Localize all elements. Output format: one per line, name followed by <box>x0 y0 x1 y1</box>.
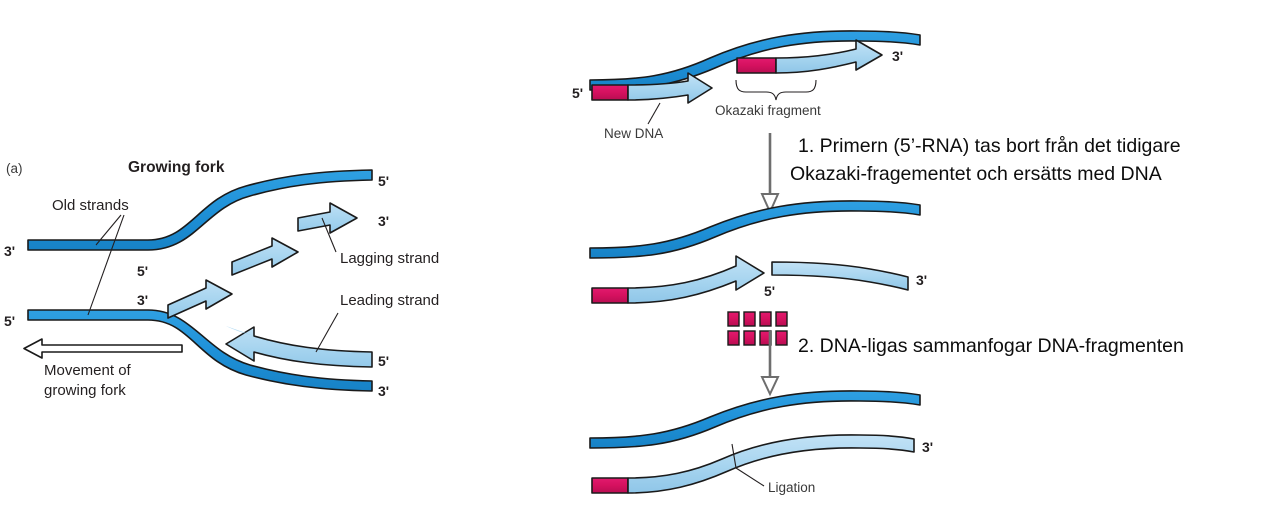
step1-end-5prime: 5' <box>572 85 583 101</box>
okazaki-arrow-1 <box>168 280 232 318</box>
step2-template-strand <box>590 201 920 258</box>
replication-figure: (a) Growing fork 3' 5' 5' 3' 5' <box>0 0 1270 522</box>
panel-a-label: (a) <box>6 161 23 176</box>
panel-b-okazaki-processing: 3' 5' New DNA Okazaki fragment 1. Primer… <box>560 0 1270 522</box>
free-nucleotide <box>728 312 739 326</box>
panel-a-title: Growing fork <box>128 159 225 176</box>
free-nucleotide <box>744 331 755 345</box>
end-label-5prime-leading: 5' <box>378 353 389 369</box>
end-label-5prime-lagging-start: 5' <box>137 263 148 279</box>
end-label-5prime-template-bottom: 5' <box>4 313 15 329</box>
step-connector-arrow-1 <box>762 133 778 212</box>
step2-downstream-fragment <box>772 262 908 290</box>
old-strands-label: Old strands <box>52 197 129 214</box>
step2-extending-strand <box>628 256 764 303</box>
fork-movement-arrow <box>24 339 182 358</box>
step3-end-3prime: 3' <box>922 439 933 455</box>
end-label-3prime-leading-start: 3' <box>137 292 148 308</box>
step2-end-3prime: 3' <box>916 272 927 288</box>
leading-strand-arrow <box>226 327 372 367</box>
step1-okazaki-label: Okazaki fragment <box>715 103 821 118</box>
step3-ligation-label: Ligation <box>768 480 815 495</box>
annotation-2-line-1: 2. DNA-ligas sammanfogar DNA-fragmenten <box>798 335 1184 357</box>
step1-rna-primer-left <box>592 85 628 100</box>
leading-strand-label: Leading strand <box>340 292 439 309</box>
step2-end-5prime: 5' <box>764 283 775 299</box>
free-nucleotide <box>760 312 771 326</box>
fork-movement-label-line1: Movement of <box>44 362 132 379</box>
panel-a-svg: (a) Growing fork 3' 5' 5' 3' 5' <box>0 0 560 522</box>
free-nucleotide <box>744 312 755 326</box>
annotation-1-line-1: 1. Primern (5’-RNA) tas bort från det ti… <box>798 135 1181 157</box>
step-2-group: 3' 5' <box>590 201 927 345</box>
step-1-group: 3' 5' New DNA Okazaki fragment <box>572 31 920 141</box>
step1-new-dna-label: New DNA <box>604 126 663 141</box>
lagging-strand-label: Lagging strand <box>340 250 439 267</box>
free-nucleotide <box>776 312 787 326</box>
step-3-group: 3' Ligation <box>590 391 933 495</box>
end-label-3prime-parent-bottom: 3' <box>378 383 389 399</box>
free-nucleotide <box>776 331 787 345</box>
fork-movement-label-line2: growing fork <box>44 382 126 399</box>
step1-rna-primer-okazaki <box>737 58 776 73</box>
step1-okazaki-brace <box>736 80 816 100</box>
end-label-5prime-parent-top: 5' <box>378 173 389 189</box>
step1-end-3prime: 3' <box>892 48 903 64</box>
okazaki-arrow-2 <box>232 238 298 275</box>
step3-rna-primer <box>592 478 628 493</box>
end-label-3prime-lagging: 3' <box>378 213 389 229</box>
free-nucleotides-group <box>728 312 787 345</box>
old-strands-leader-bottom <box>88 215 124 315</box>
step2-rna-primer <box>592 288 628 303</box>
free-nucleotide <box>728 331 739 345</box>
step3-ligation-leader <box>736 468 764 486</box>
end-label-3prime-template-top: 3' <box>4 243 15 259</box>
panel-a-growing-fork: (a) Growing fork 3' 5' 5' 3' 5' <box>0 0 560 522</box>
okazaki-arrow-3 <box>298 203 357 233</box>
step1-new-dna-leader <box>648 103 660 124</box>
annotation-1-line-2: Okazaki-fragementet och ersätts med DNA <box>790 163 1162 185</box>
leading-strand-leader <box>316 313 338 352</box>
panel-b-svg: 3' 5' New DNA Okazaki fragment 1. Primer… <box>560 0 1270 522</box>
